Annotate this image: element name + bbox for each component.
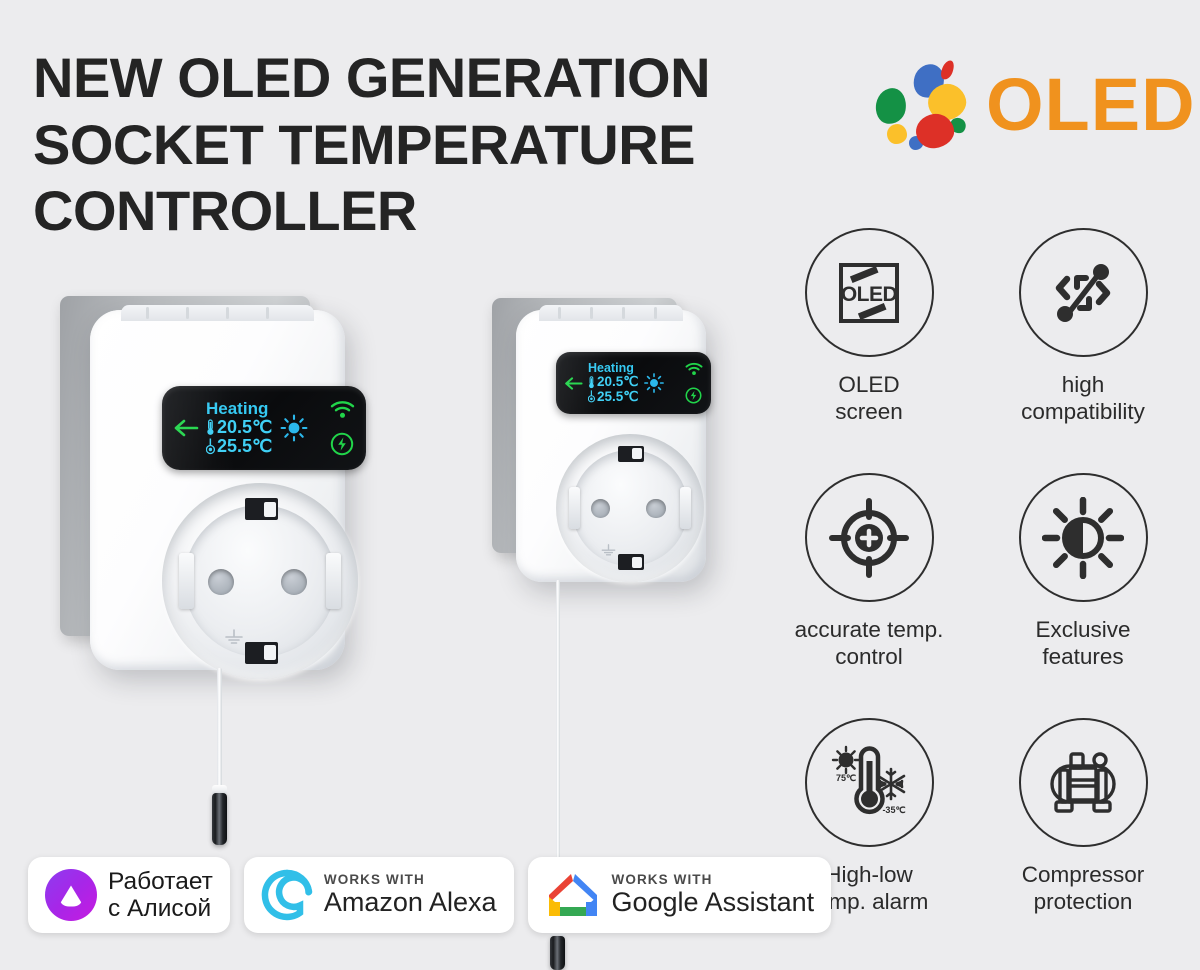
power-socket — [556, 434, 704, 582]
temperature-probe — [550, 936, 565, 970]
badge-amazon-alexa[interactable]: WORKS WITH Amazon Alexa — [244, 857, 514, 933]
badge-yandex-alice[interactable]: Работает с Алисой — [28, 857, 230, 933]
feature-grid: OLED OLED screen — [766, 228, 1186, 963]
feature-label-line1: high — [1021, 371, 1145, 398]
feature-icon-circle: OLED — [805, 228, 934, 357]
socket-notch-top — [618, 446, 643, 462]
compressor-icon — [1042, 744, 1124, 822]
feature-icon-circle — [805, 473, 934, 602]
low-temp-label: -35℃ — [882, 805, 905, 815]
power-socket — [162, 483, 358, 679]
power-bolt-icon — [685, 387, 702, 404]
sensor-cable — [217, 668, 222, 790]
thermometer-icon — [588, 376, 595, 389]
feature-icon-circle — [1019, 718, 1148, 847]
display-readout: Heating 20.5℃ — [588, 362, 638, 403]
display-temp-secondary: 25.5℃ — [217, 437, 272, 456]
socket-recess — [572, 450, 687, 565]
feature-label-line1: OLED — [835, 371, 903, 398]
feature-label-line2: screen — [835, 398, 903, 425]
feature-accurate-temp-control: accurate temp. control — [766, 473, 972, 718]
high-low-thermometer-icon: 75℃ -35℃ — [825, 743, 913, 823]
socket-pin-left — [208, 569, 234, 595]
oled-display[interactable]: Heating 20.5℃ — [162, 386, 366, 470]
oled-pinwheel-icon — [868, 54, 970, 156]
headline-line-1: NEW OLED GENERATION — [33, 45, 863, 112]
back-arrow-icon — [564, 376, 583, 391]
feature-label-line1: Exclusive — [1035, 616, 1130, 643]
feature-icon-circle: 75℃ -35℃ — [805, 718, 934, 847]
feature-label: Exclusive features — [1035, 616, 1130, 671]
high-compatibility-icon — [1044, 254, 1122, 332]
headline-line-3: CONTROLLER — [33, 178, 863, 245]
socket-notch-bottom — [245, 642, 279, 663]
socket-notch-top — [245, 498, 279, 519]
wifi-icon — [685, 362, 703, 376]
feature-label: accurate temp. control — [795, 616, 944, 671]
feature-icon-circle — [1019, 473, 1148, 602]
earth-clip-right — [680, 487, 692, 529]
badge-line1: Amazon Alexa — [324, 887, 497, 917]
earth-clip-left — [569, 487, 581, 529]
oled-wordmark: OLED — [986, 68, 1196, 142]
badge-small-label: WORKS WITH — [324, 872, 497, 887]
svg-text:OLED: OLED — [841, 283, 898, 306]
socket-thermostat-side: Heating 20.5℃ — [488, 292, 728, 952]
feature-label: high compatibility — [1021, 371, 1145, 426]
amazon-alexa-icon — [261, 869, 313, 921]
headline-line-2: SOCKET TEMPERATURE — [33, 112, 863, 179]
socket-pin-left — [591, 499, 611, 519]
feature-label-line2: features — [1035, 643, 1130, 670]
probe-sensor-icon — [588, 390, 595, 403]
power-bolt-icon — [330, 432, 354, 456]
feature-compressor-protection: Compressor protection — [980, 718, 1186, 963]
socket-pin-right — [281, 569, 307, 595]
ground-symbol-icon — [223, 629, 245, 647]
yandex-alice-icon — [45, 869, 97, 921]
feature-label-line2: control — [795, 643, 944, 670]
oled-screen-icon: OLED — [830, 254, 908, 332]
crosshair-target-icon — [829, 498, 909, 578]
feature-label-line2: protection — [1022, 888, 1145, 915]
display-temp-primary: 20.5℃ — [217, 418, 272, 437]
display-mode: Heating — [206, 400, 272, 418]
feature-high-compatibility: high compatibility — [980, 228, 1186, 473]
display-temp-primary: 20.5℃ — [597, 375, 638, 389]
earth-clip-right — [326, 553, 341, 608]
google-home-icon — [545, 870, 601, 920]
brightness-contrast-icon — [1042, 497, 1124, 579]
earth-clip-left — [179, 553, 194, 608]
badge-line1: Работает — [108, 868, 213, 895]
feature-label: OLED screen — [835, 371, 903, 426]
feature-label-line1: Compressor — [1022, 861, 1145, 888]
feature-label: Compressor protection — [1022, 861, 1145, 916]
feature-oled-screen: OLED OLED screen — [766, 228, 972, 473]
socket-pin-right — [646, 499, 666, 519]
back-arrow-icon — [173, 418, 199, 438]
feature-exclusive-features: Exclusive features — [980, 473, 1186, 718]
sun-icon — [279, 413, 309, 443]
wifi-icon — [330, 400, 355, 419]
temperature-probe — [212, 793, 227, 845]
promo-banner: NEW OLED GENERATION SOCKET TEMPERATURE C… — [0, 0, 1200, 960]
socket-notch-bottom — [618, 554, 643, 570]
sun-icon — [643, 372, 665, 394]
socket-recess — [184, 505, 337, 658]
probe-sensor-icon — [206, 438, 215, 455]
display-mode: Heating — [588, 362, 638, 375]
badge-small-label: WORKS WITH — [612, 872, 815, 887]
display-temp-secondary: 25.5℃ — [597, 390, 638, 404]
feature-label-line1: accurate temp. — [795, 616, 944, 643]
badge-google-assistant[interactable]: WORKS WITH Google Assistant — [528, 857, 832, 933]
oled-brand-logo: OLED — [868, 52, 1148, 157]
badge-line1: Google Assistant — [612, 887, 815, 917]
feature-label-line2: compatibility — [1021, 398, 1145, 425]
thermometer-icon — [206, 419, 215, 436]
badge-line2: с Алисой — [108, 895, 213, 922]
display-readout: Heating 20.5℃ — [206, 400, 272, 455]
compatibility-badges: Работает с Алисой WORKS WITH Amazon Alex… — [28, 857, 831, 933]
page-title: NEW OLED GENERATION SOCKET TEMPERATURE C… — [33, 45, 863, 245]
socket-thermostat-front: Heating 20.5℃ — [52, 288, 362, 848]
feature-icon-circle — [1019, 228, 1148, 357]
oled-display[interactable]: Heating 20.5℃ — [556, 352, 711, 414]
ground-symbol-icon — [600, 544, 617, 558]
high-temp-label: 75℃ — [836, 773, 856, 783]
